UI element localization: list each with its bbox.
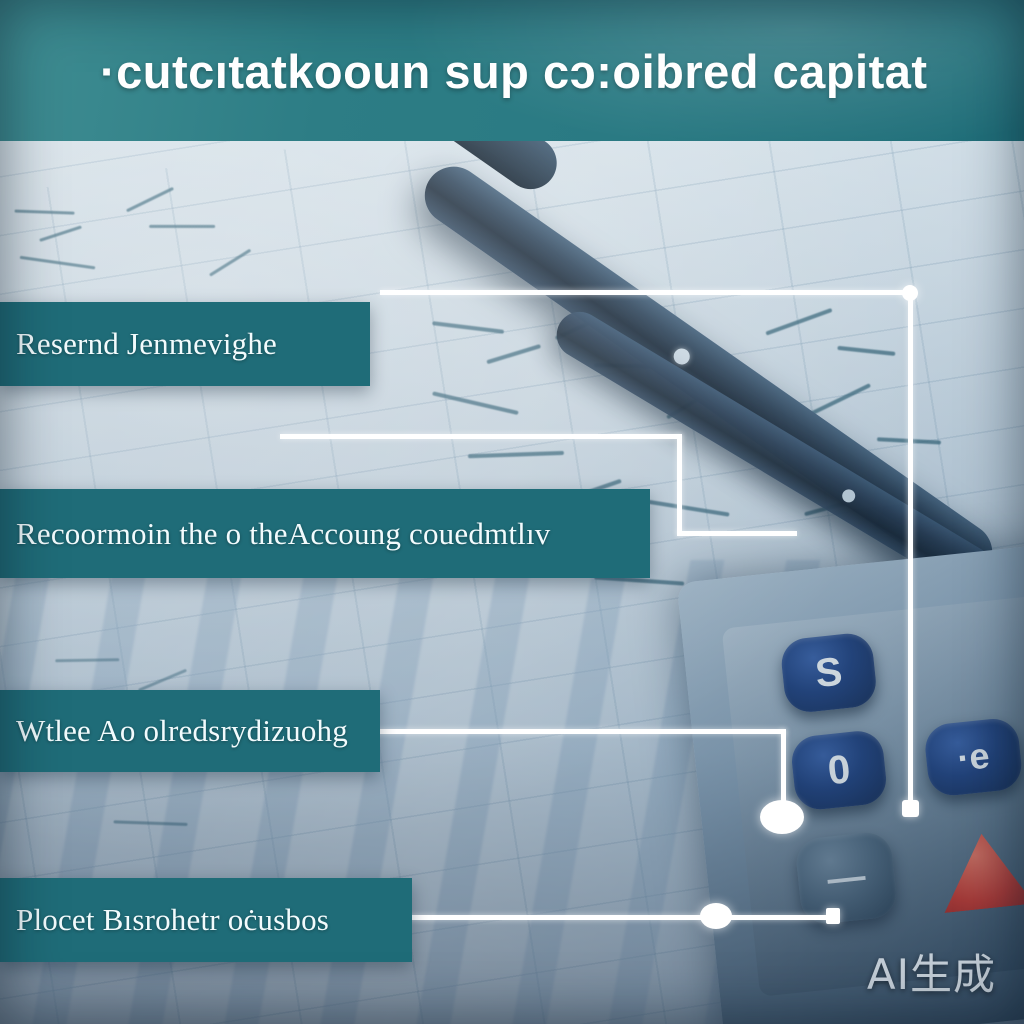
connector-line-1-vertical [908,290,913,814]
connector-node-4 [700,903,732,929]
connector-line-2-vertical [677,434,682,536]
label-bar-3[interactable]: Wtlee Ao olredsrydizuohg [0,690,380,772]
connector-end-cap-4 [826,908,840,924]
connector-end-cap-1 [902,800,919,817]
connector-node-3 [760,800,804,834]
label-bar-1[interactable]: Resernd Jenmevighe [0,302,370,386]
label-bar-4[interactable]: Plocet Bısrohetr oċusbos [0,878,412,962]
ai-generated-watermark: AI生成 [867,941,996,1002]
label-bar-1-text: Resernd Jenmevighe [0,326,277,362]
connector-line-2-horizontal [280,434,682,439]
connector-line-1-horizontal [380,290,913,295]
connector-line-2-horizontal-2 [677,531,797,536]
page-title: ·cutcıtatkooun sup cɔ:oibred capitat [100,44,928,99]
label-bar-4-text: Plocet Bısrohetr oċusbos [0,902,329,938]
header-band: ·cutcıtatkooun sup cɔ:oibred capitat [0,0,1024,141]
connector-node-1 [902,285,918,301]
label-bar-2-text: Recoormoin the o theAccoung couedmtlıv [0,516,550,552]
label-bar-2[interactable]: Recoormoin the o theAccoung couedmtlıv [0,489,650,578]
label-bar-3-text: Wtlee Ao olredsrydizuohg [0,713,348,749]
infographic-canvas: S 0 — ·e ·cutcıtatkooun sup cɔ:oibred [0,0,1024,1024]
